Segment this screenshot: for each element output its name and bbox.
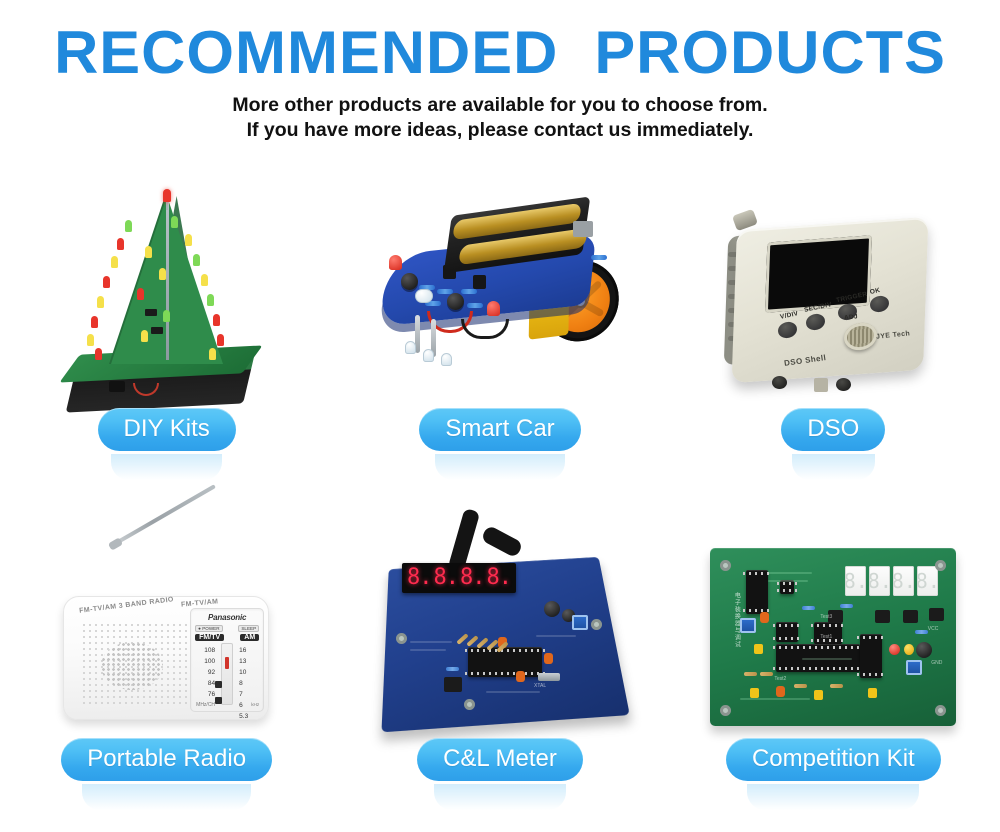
product-label-box-diy-kits: DIY Kits (98, 408, 236, 480)
product-label-box-smart-car: Smart Car (419, 408, 580, 480)
cl-meter-display: 8. 8. 8. 8. (402, 563, 516, 593)
product-label-box-portable-radio: Portable Radio (61, 738, 272, 810)
am-tick: 5.3 (239, 711, 257, 722)
segment-digit: 8. (407, 567, 432, 589)
kit-ic-4 (860, 634, 882, 678)
product-label-box-competition-kit: Competition Kit (726, 738, 941, 810)
smart-car-kit-illustration (375, 193, 625, 408)
segment-digit: 8. (917, 566, 938, 596)
product-button-portable-radio[interactable]: Portable Radio (61, 738, 272, 781)
radio-unit-right: kHz (251, 702, 259, 708)
product-image-smart-car (333, 150, 666, 408)
radio-sleep-tag: SLEEP (238, 625, 259, 632)
page-root: RECOMMENDED PRODUCTS More other products… (0, 0, 1000, 832)
page-subtitle: More other products are available for yo… (0, 93, 1000, 143)
am-tick: 7 (239, 689, 257, 700)
fm-tick: 84 (197, 678, 215, 689)
oscilloscope-illustration: V/DIV SEC/DIV TRIGGER OK ADJ DSO Shell J… (718, 208, 948, 408)
competition-kit-display: 8. 8. 8. 8. (845, 566, 938, 596)
segment-digit: 8. (893, 566, 914, 596)
fm-tick: 76 (197, 689, 215, 700)
portable-radio-illustration: FM-TV/AM 3 BAND RADIO FM-TV/AM Panasonic… (49, 538, 284, 738)
subtitle-line-2: If you have more ideas, please contact u… (0, 118, 1000, 143)
segment-digit: 8. (433, 567, 458, 589)
dso-knob-label-adj: ADJ (844, 313, 859, 321)
cl-meter-main-ic (468, 647, 542, 677)
kit-ic-3 (814, 622, 842, 644)
radio-speaker (101, 642, 163, 690)
segment-digit: 8. (460, 567, 485, 589)
competition-kit-illustration: 8. 8. 8. 8. 电子装换器与调试 (710, 548, 956, 726)
am-tick: 16 (239, 645, 257, 656)
cl-meter-illustration: 8. 8. 8. 8. (386, 549, 614, 724)
am-tick: 13 (239, 656, 257, 667)
radio-tuning-dial[interactable]: Panasonic ● POWER SLEEP FM/TV AM 108 100 (190, 608, 264, 712)
product-label-box-cl-meter: C&L Meter (417, 738, 583, 810)
product-card-dso[interactable]: V/DIV SEC/DIV TRIGGER OK ADJ DSO Shell J… (667, 150, 1000, 480)
radio-scale-fm: 108 100 92 84 76 (197, 645, 215, 700)
product-image-dso: V/DIV SEC/DIV TRIGGER OK ADJ DSO Shell J… (667, 150, 1000, 408)
radio-band-am: AM (240, 634, 259, 641)
segment-digit: 8. (486, 567, 511, 589)
am-tick: 10 (239, 667, 257, 678)
competition-kit-silkscreen: 电子装换器与调试 (732, 592, 741, 678)
radio-scale-am: 16 13 10 8 7 6 5.3 (239, 645, 257, 722)
product-card-portable-radio[interactable]: FM-TV/AM 3 BAND RADIO FM-TV/AM Panasonic… (0, 480, 333, 810)
radio-power-tag: ● POWER (195, 625, 222, 632)
fm-tick: 108 (197, 645, 215, 656)
product-button-dso[interactable]: DSO (781, 408, 885, 451)
radio-tuning-needle (225, 657, 229, 669)
radio-unit-left: MHz/CH (196, 702, 215, 708)
product-image-portable-radio: FM-TV/AM 3 BAND RADIO FM-TV/AM Panasonic… (0, 480, 333, 738)
product-image-diy-kits (0, 150, 333, 408)
product-button-diy-kits[interactable]: DIY Kits (98, 408, 236, 451)
kit-ic-1 (746, 570, 768, 614)
product-card-cl-meter[interactable]: 8. 8. 8. 8. (333, 480, 666, 810)
segment-digit: 8. (845, 566, 866, 596)
product-label-box-dso: DSO (781, 408, 885, 480)
subtitle-line-1: More other products are available for yo… (232, 94, 767, 116)
header: RECOMMENDED PRODUCTS More other products… (0, 0, 1000, 143)
kit-ic-2 (776, 622, 798, 642)
page-title: RECOMMENDED PRODUCTS (0, 22, 1000, 84)
product-card-competition-kit[interactable]: 8. 8. 8. 8. 电子装换器与调试 (667, 480, 1000, 810)
radio-band-fmtv: FM/TV (195, 634, 224, 641)
product-grid: DIY Kits (0, 150, 1000, 810)
product-button-smart-car[interactable]: Smart Car (419, 408, 580, 451)
product-card-diy-kits[interactable]: DIY Kits (0, 150, 333, 480)
am-tick: 8 (239, 678, 257, 689)
product-image-cl-meter: 8. 8. 8. 8. (333, 480, 666, 738)
product-button-competition-kit[interactable]: Competition Kit (726, 738, 941, 781)
radio-brand-text: Panasonic (191, 613, 263, 622)
product-card-smart-car[interactable]: Smart Car (333, 150, 666, 480)
fm-tick: 92 (197, 667, 215, 678)
christmas-tree-kit-illustration (67, 168, 267, 408)
kit-header (780, 580, 794, 594)
segment-digit: 8. (869, 566, 890, 596)
product-image-competition-kit: 8. 8. 8. 8. 电子装换器与调试 (667, 480, 1000, 738)
product-button-cl-meter[interactable]: C&L Meter (417, 738, 583, 781)
fm-tick: 100 (197, 656, 215, 667)
